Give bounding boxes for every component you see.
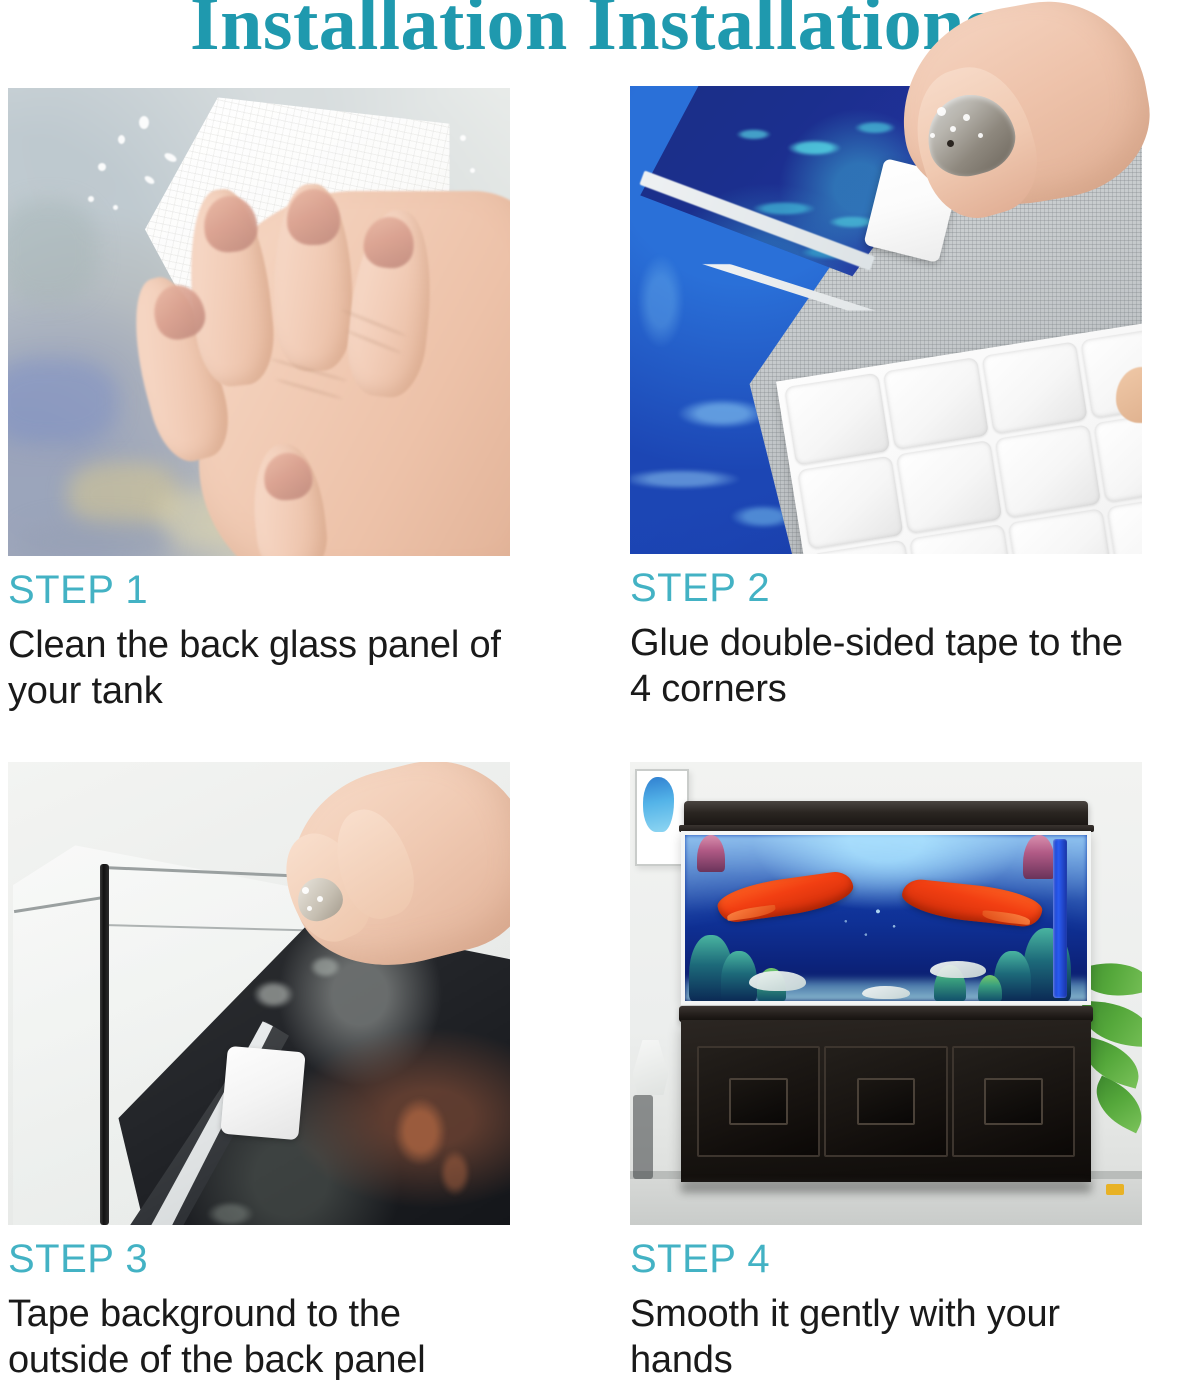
white-rock bbox=[862, 986, 910, 999]
nail-glitter bbox=[950, 126, 956, 132]
tape-pad bbox=[982, 341, 1088, 434]
tape-pad bbox=[1107, 492, 1142, 554]
fingernail bbox=[286, 188, 340, 245]
step-1-description: Clean the back glass panel of your tank bbox=[8, 622, 510, 715]
step-card-1: STEP 1 Clean the back glass panel of you… bbox=[8, 88, 510, 715]
background-blur-blob bbox=[18, 519, 169, 556]
filter-tube bbox=[1053, 839, 1067, 998]
nail-glitter bbox=[317, 896, 323, 902]
cabinet-door bbox=[952, 1046, 1075, 1157]
tape-pad bbox=[995, 425, 1101, 518]
step-3-photo bbox=[8, 762, 510, 1225]
water-droplet bbox=[470, 168, 475, 173]
tape-pad bbox=[883, 357, 989, 450]
step-card-3: STEP 3 Tape background to the outside of… bbox=[8, 762, 510, 1384]
step-4-label: STEP 4 bbox=[630, 1238, 1142, 1280]
nail-glitter bbox=[963, 114, 970, 121]
step-2-label: STEP 2 bbox=[630, 567, 1142, 609]
step-card-4: STEP 4 Smooth it gently with your hands bbox=[630, 762, 1142, 1384]
installation-steps-grid: STEP 1 Clean the back glass panel of you… bbox=[0, 0, 1185, 1398]
nail-glitter bbox=[930, 133, 935, 138]
step-3-label: STEP 3 bbox=[8, 1238, 510, 1280]
side-table-stand bbox=[633, 1095, 653, 1178]
nail-glitter bbox=[978, 133, 983, 138]
wall-picture-artwork bbox=[643, 777, 674, 831]
step-2-photo bbox=[630, 86, 1142, 554]
tape-pad bbox=[797, 456, 903, 549]
cabinet-door-panel bbox=[984, 1078, 1043, 1124]
tank-corner-seal bbox=[100, 864, 109, 1225]
background-blur-blob bbox=[8, 359, 118, 443]
page-title: Installation Installations bbox=[190, 0, 995, 62]
nail-glitter bbox=[302, 887, 309, 894]
nail-glitter bbox=[307, 906, 312, 911]
aquarium-cabinet-stand bbox=[681, 1020, 1091, 1182]
water-droplet bbox=[88, 196, 94, 202]
step-card-2: STEP 2 Glue double-sided tape to the 4 c… bbox=[630, 86, 1142, 713]
yellow-corner-accent bbox=[1106, 1184, 1124, 1195]
background-blur-blob bbox=[8, 200, 98, 303]
cabinet-floor-shadow bbox=[681, 1183, 1091, 1192]
cabinet-door bbox=[697, 1046, 820, 1157]
step-4-photo bbox=[630, 762, 1142, 1225]
tape-pad bbox=[896, 440, 1002, 533]
cabinet-door-panel bbox=[857, 1078, 916, 1124]
white-rock bbox=[749, 971, 805, 991]
water-droplet bbox=[139, 116, 149, 129]
water-droplet bbox=[460, 135, 466, 141]
step-1-photo bbox=[8, 88, 510, 556]
step-1-label: STEP 1 bbox=[8, 569, 510, 611]
tape-pad bbox=[1094, 409, 1142, 502]
cabinet-door bbox=[824, 1046, 947, 1157]
step-2-description: Glue double-sided tape to the 4 corners bbox=[630, 620, 1135, 713]
double-sided-tape-square bbox=[220, 1046, 305, 1140]
step-4-description: Smooth it gently with your hands bbox=[630, 1291, 1135, 1384]
step-3-description: Tape background to the outside of the ba… bbox=[8, 1291, 510, 1384]
cabinet-door-panel bbox=[729, 1078, 788, 1124]
pink-coral bbox=[1023, 835, 1055, 878]
white-rock bbox=[930, 961, 986, 978]
aquarium-background-print bbox=[685, 835, 1087, 1001]
aquarium-tank bbox=[681, 831, 1091, 1005]
tape-pad bbox=[784, 373, 890, 466]
